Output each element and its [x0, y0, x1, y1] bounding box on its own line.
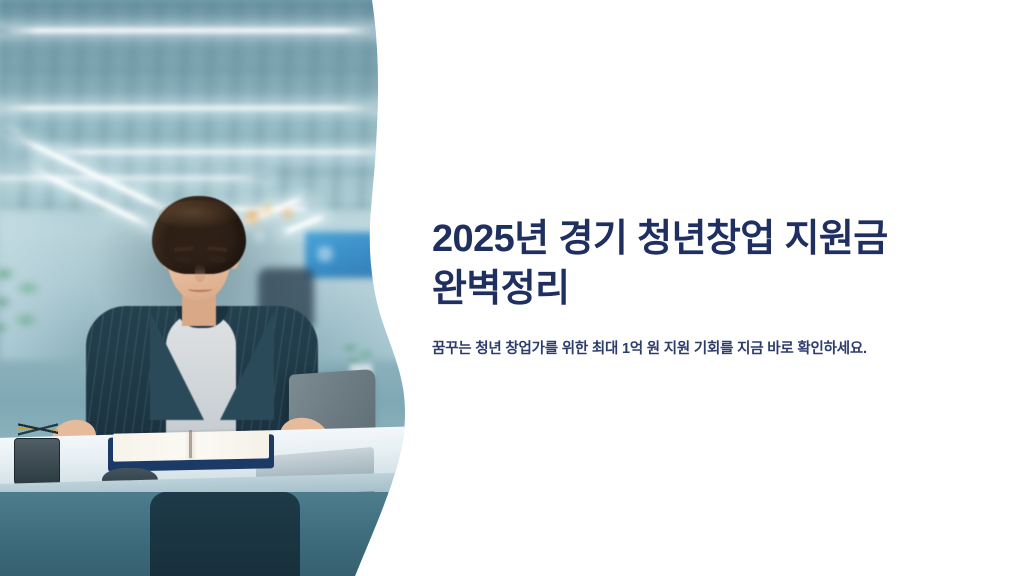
page-title: 2025년 경기 청년창업 지원금 완벽정리: [432, 215, 960, 314]
hero-photo: [0, 0, 420, 576]
eye: [175, 256, 192, 263]
person-legs: [150, 492, 300, 576]
book-spine: [189, 430, 192, 458]
text-content: 2025년 경기 청년창업 지원금 완벽정리 꿈꾸는 청년 창업가를 위한 최대…: [432, 0, 972, 576]
hair: [152, 196, 246, 274]
pen-holder: [14, 438, 60, 488]
hero-slide: 2025년 경기 청년창업 지원금 완벽정리 꿈꾸는 청년 창업가를 위한 최대…: [0, 0, 1024, 576]
eye: [209, 256, 226, 263]
blazer-lapel: [220, 312, 274, 420]
mouth: [188, 286, 212, 292]
blazer-lapel: [150, 312, 204, 420]
nose: [195, 264, 205, 282]
page-subtitle: 꿈꾸는 청년 창업가를 위한 최대 1억 원 지원 기회를 지금 바로 확인하세…: [432, 339, 952, 361]
